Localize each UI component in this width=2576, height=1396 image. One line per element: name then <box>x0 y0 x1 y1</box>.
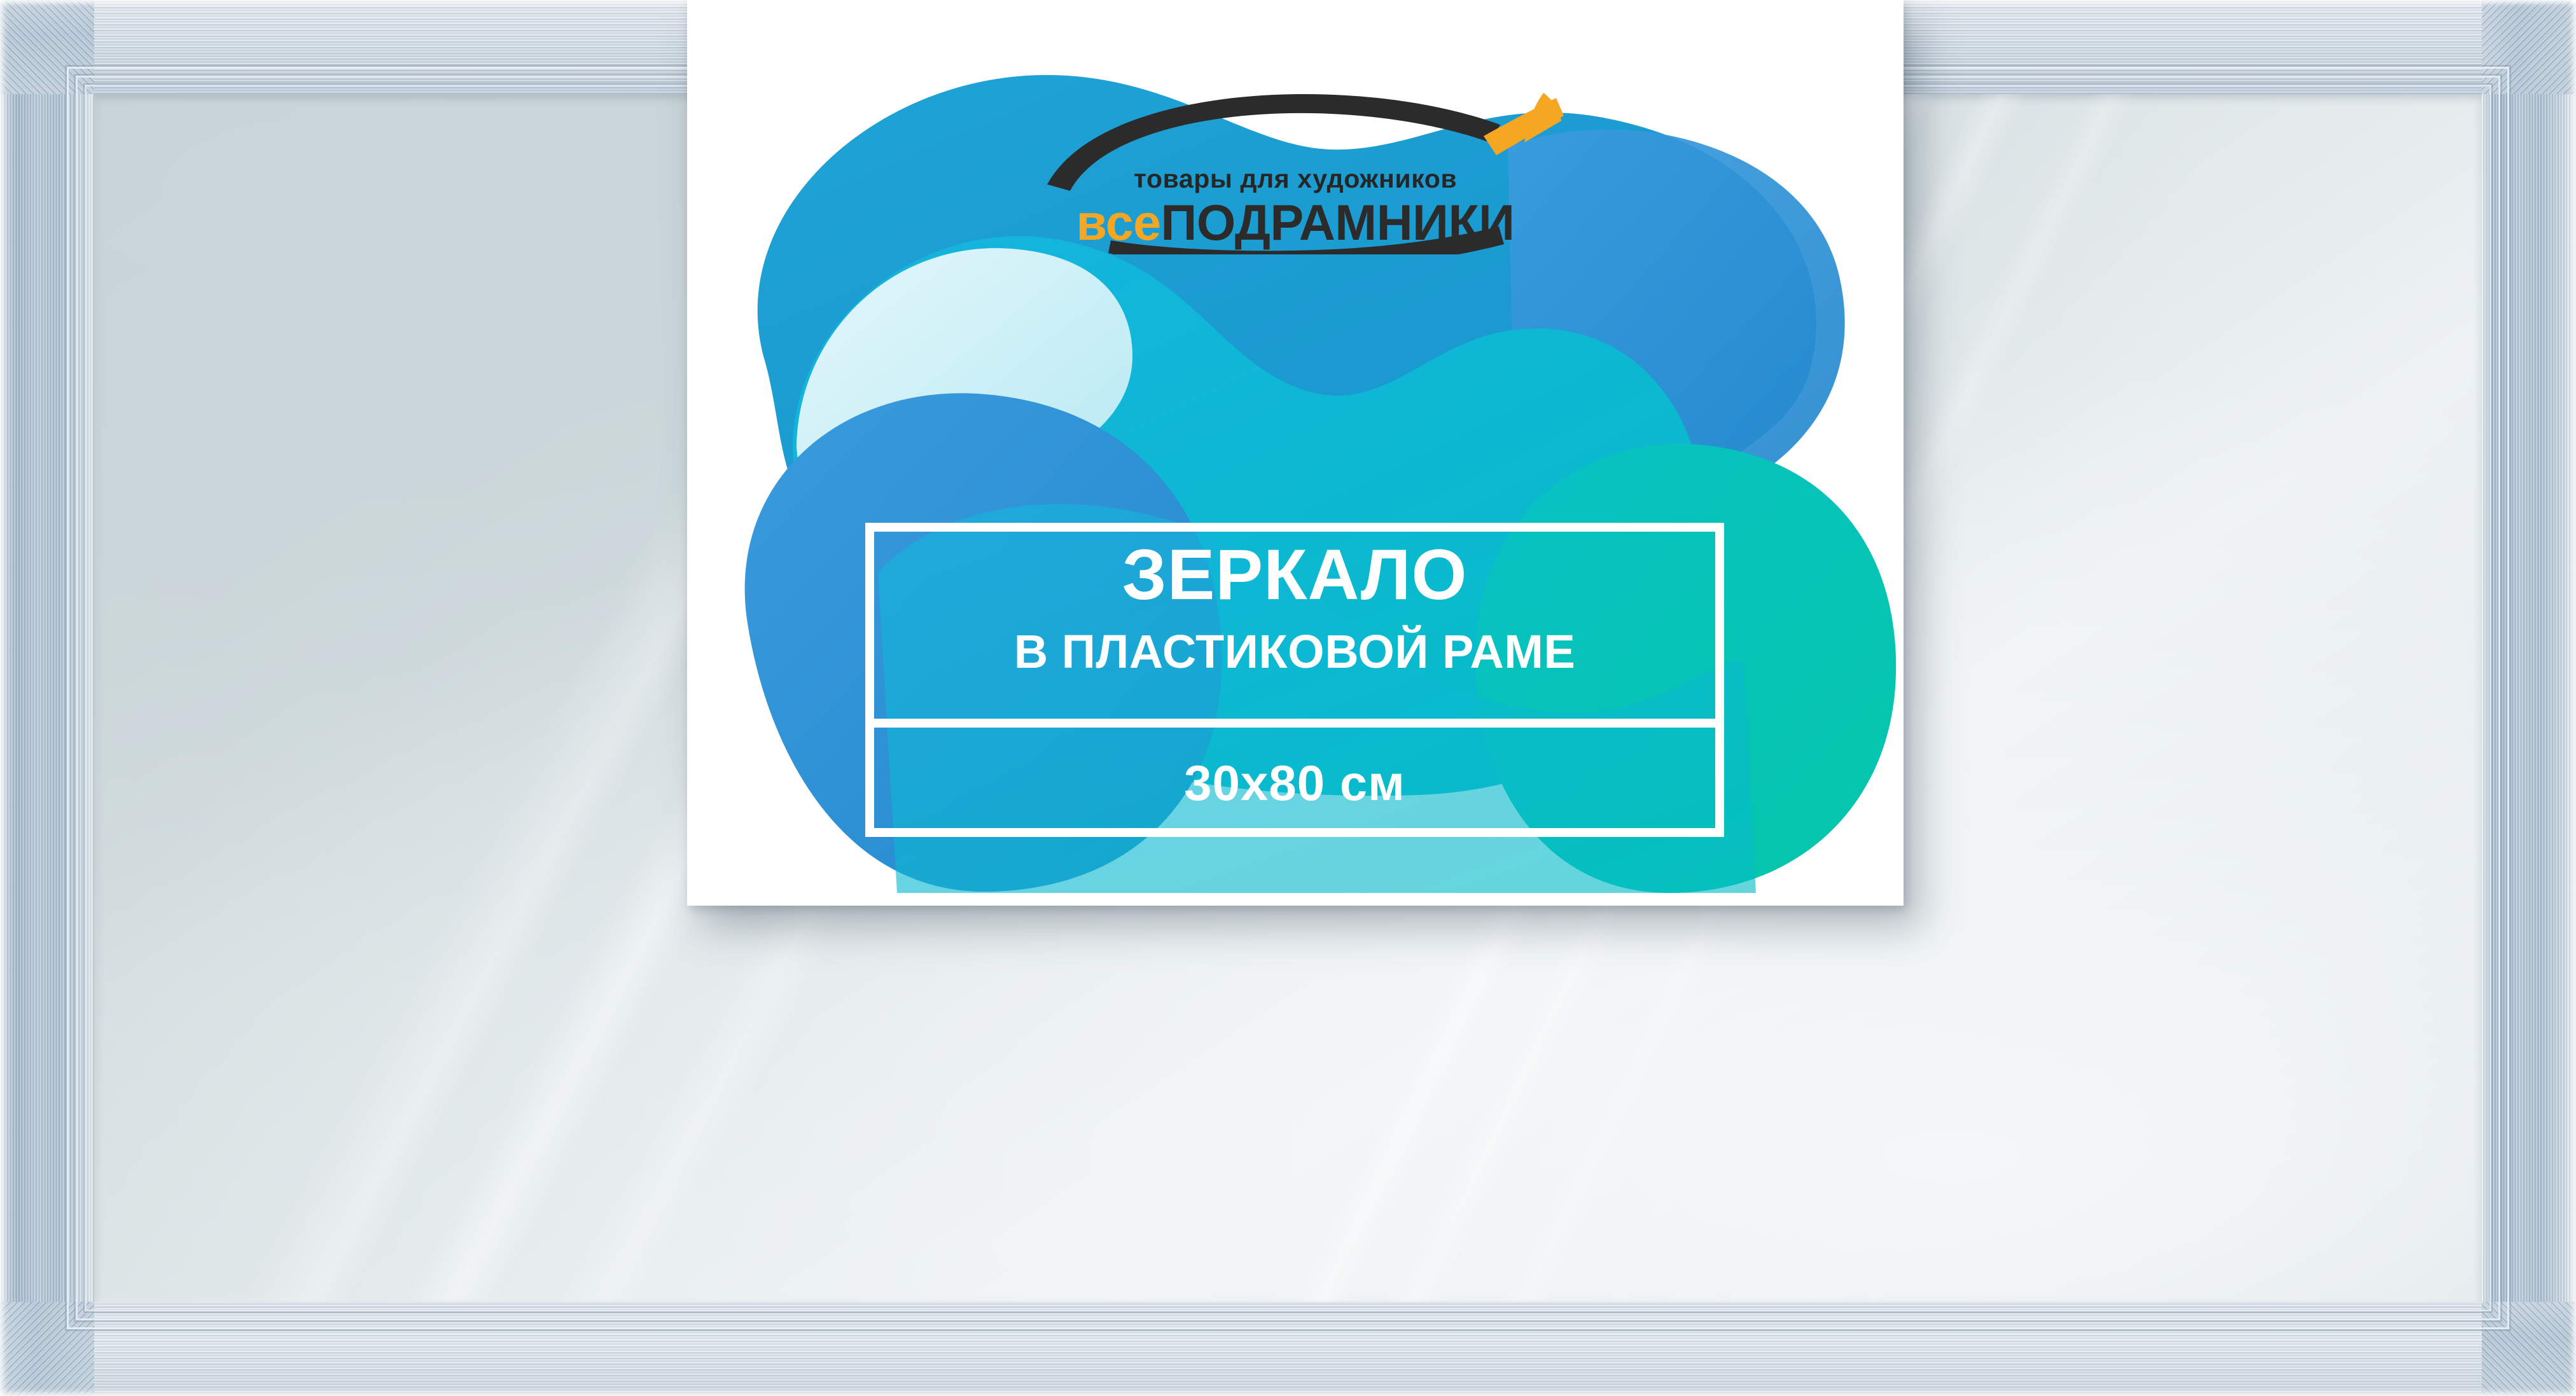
frame-rail-right <box>2482 0 2576 1396</box>
headline-box-divider <box>865 719 1724 728</box>
product-photo: товары для художников всеПОДРАМНИКИ ЗЕРК… <box>0 0 2576 1396</box>
logo-wordmark-suffix: ПОДРАМНИКИ <box>1161 194 1515 251</box>
size-label: 30x80 см <box>874 758 1715 808</box>
logo-wordmark: всеПОДРАМНИКИ <box>952 197 1639 247</box>
brand-logo: товары для художников всеПОДРАМНИКИ <box>952 89 1639 254</box>
headline-line-1: ЗЕРКАЛО <box>874 539 1715 611</box>
frame-corner-bottom-right <box>2482 1302 2576 1396</box>
headline-box: ЗЕРКАЛО В ПЛАСТИКОВОЙ РАМЕ 30x80 см <box>865 523 1724 837</box>
frame-corner-top-right <box>2482 0 2576 94</box>
frame-corner-bottom-left <box>0 1302 94 1396</box>
headline-line-2: В ПЛАСТИКОВОЙ РАМЕ <box>874 628 1715 675</box>
frame-rail-left <box>0 0 94 1396</box>
product-label-card: товары для художников всеПОДРАМНИКИ ЗЕРК… <box>687 0 1904 906</box>
frame-corner-top-left <box>0 0 94 94</box>
logo-tagline: товары для художников <box>952 164 1639 194</box>
logo-wordmark-prefix: все <box>1076 194 1161 251</box>
